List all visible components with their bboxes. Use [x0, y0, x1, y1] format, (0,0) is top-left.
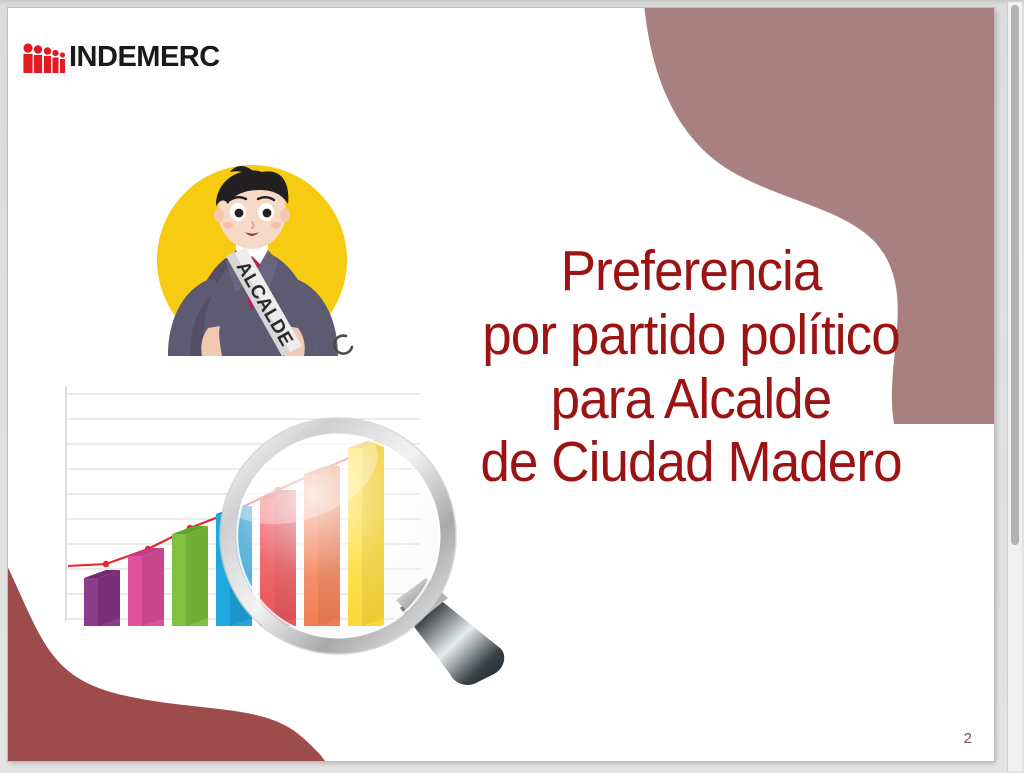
title-line-2: por partido político	[426, 304, 956, 368]
chart-bar	[172, 526, 208, 626]
vertical-scrollbar-track[interactable]	[1007, 2, 1022, 771]
chart-bar	[84, 570, 120, 626]
mayor-avatar-icon: ALCALDE	[150, 160, 365, 360]
people-group-icon	[22, 41, 68, 73]
title-line-3: para Alcalde	[426, 368, 956, 432]
page-number: 2	[964, 730, 972, 747]
page-title: Preferencia por partido político para Al…	[426, 240, 956, 495]
slide-viewer: INDEMERC	[0, 0, 1024, 773]
title-line-1: Preferencia	[426, 240, 956, 304]
vertical-scrollbar-thumb[interactable]	[1011, 5, 1019, 545]
title-line-4: de Ciudad Madero	[426, 431, 956, 495]
presentation-slide: INDEMERC	[8, 8, 994, 761]
chart-bar	[128, 548, 164, 626]
brand-logo-text: INDEMERC	[69, 43, 220, 72]
brand-logo: INDEMERC	[22, 33, 220, 73]
